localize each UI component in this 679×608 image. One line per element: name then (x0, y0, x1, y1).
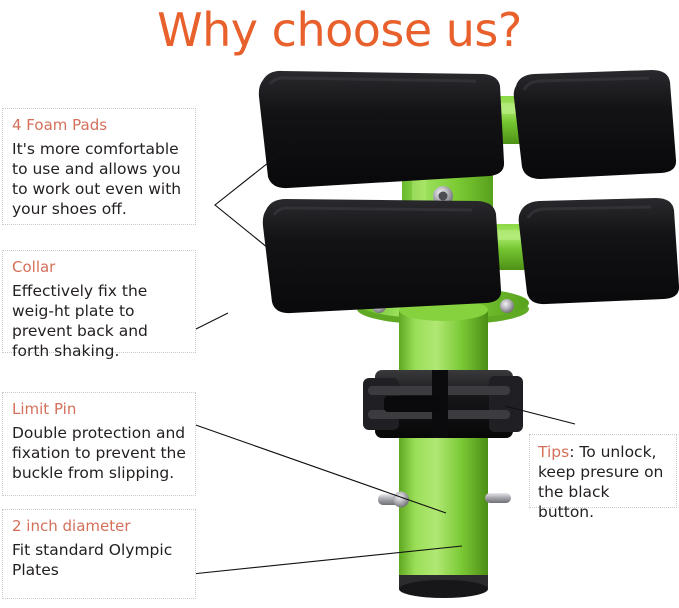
foam-pad-bottom-left (263, 199, 501, 313)
callout-tips: Tips: To unlock, keep presure on the bla… (529, 434, 677, 508)
page-title: Why choose us? (0, 0, 679, 60)
foam-pad-top-left (259, 71, 504, 188)
callout-body: Double protection and fixation to preven… (12, 423, 186, 483)
callout-heading: 4 Foam Pads (12, 115, 186, 136)
callout-collar: Collar Effectively fix the weig-ht plate… (2, 250, 196, 353)
tips-label: Tips (538, 443, 569, 461)
black-collar-clamp (363, 370, 523, 438)
foam-pad-bottom-right (519, 198, 679, 304)
callout-body: Effectively fix the weig-ht plate to pre… (12, 281, 186, 361)
callout-body: Fit standard Olympic Plates (12, 540, 186, 580)
product-image (236, 70, 679, 608)
callout-heading: 2 inch diameter (12, 516, 186, 537)
callout-limit-pin: Limit Pin Double protection and fixation… (2, 392, 196, 496)
callout-body: It's more comfortable to use and allows … (12, 139, 186, 219)
callout-heading: Limit Pin (12, 399, 186, 420)
foam-pad-top-right (514, 70, 676, 179)
post-base-cap (399, 575, 488, 598)
callout-diameter: 2 inch diameter Fit standard Olympic Pla… (2, 509, 196, 599)
callout-foam-pads: 4 Foam Pads It's more comfortable to use… (2, 108, 196, 225)
callout-heading: Collar (12, 257, 186, 278)
green-post-tube (399, 299, 488, 588)
tips-text: Tips: To unlock, keep presure on the bla… (538, 442, 668, 522)
